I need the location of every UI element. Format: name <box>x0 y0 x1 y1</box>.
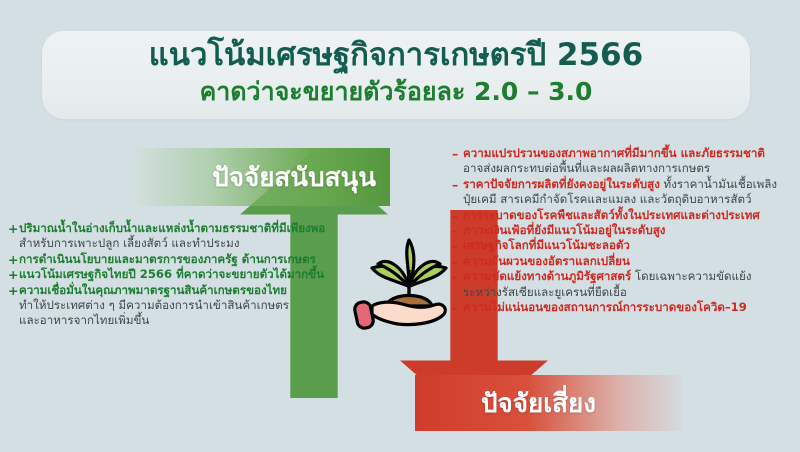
infographic-canvas: แนวโน้มเศรษฐกิจการเกษตรปี 2566 คาดว่าจะข… <box>0 0 800 452</box>
bullet-plus-icon: + <box>8 252 19 267</box>
risk-factors-list: – ความแปรปรวนของสภาพอากาศที่มีมากขึ้น แล… <box>452 146 798 315</box>
bullet-dash-icon: – <box>452 269 463 284</box>
support-banner: ปัจจัยสนับสนุน <box>132 148 390 206</box>
list-item: – ความไม่แน่นอนของสถานการณ์การระบาดของโค… <box>452 300 798 315</box>
list-item-head: แนวโน้มเศรษฐกิจไทยปี 2566 ที่คาดว่าจะขยา… <box>19 267 324 281</box>
list-item-head: ความเชื่อมั่นในคุณภาพมาตรฐานสินค้าเกษตรข… <box>19 283 287 297</box>
bullet-dash-icon: – <box>452 177 463 192</box>
bullet-plus-icon: + <box>8 221 19 236</box>
list-item-tail: โดยเฉพาะความขัดแย้ง <box>631 269 751 283</box>
risk-banner: ปัจจัยเสี่ยง <box>415 375 683 431</box>
list-item-head: ปริมาณน้ำในอ่างเก็บน้ำและแหล่งน้ำตามธรรม… <box>19 221 325 235</box>
list-item: + แนวโน้มเศรษฐกิจไทยปี 2566 ที่คาดว่าจะข… <box>8 267 358 282</box>
list-item-continuation: ทำให้ประเทศต่าง ๆ มีความต้องการนำเข้าสิน… <box>19 298 358 329</box>
list-item-continuation: ระหว่างรัสเซียและยูเครนที่ยืดเยื้อ <box>463 285 798 300</box>
support-factors-list: + ปริมาณน้ำในอ่างเก็บน้ำและแหล่งน้ำตามธร… <box>8 221 358 329</box>
list-item: – ราคาปัจจัยการผลิตที่ยังคงอยู่ในระดับสู… <box>452 177 798 208</box>
bullet-plus-icon: + <box>8 283 19 298</box>
list-item: – เศรษฐกิจโลกที่มีแนวโน้มชะลอตัว <box>452 238 798 253</box>
bullet-plus-icon: + <box>8 267 19 282</box>
list-item-continuation: อาจส่งผลกระทบต่อพื้นที่และผลผลิตทางการเก… <box>463 161 798 176</box>
bullet-dash-icon: – <box>452 146 463 161</box>
page-title: แนวโน้มเศรษฐกิจการเกษตรปี 2566 <box>42 36 750 74</box>
list-item-head: การดำเนินนโยบายและมาตรการของภาครัฐ ด้านก… <box>19 252 316 266</box>
list-item: – ความขัดแย้งทางด้านภูมิรัฐศาสตร์ โดยเฉพ… <box>452 269 798 300</box>
bullet-dash-icon: – <box>452 300 463 315</box>
page-subtitle: คาดว่าจะขยายตัวร้อยละ 2.0 – 3.0 <box>42 76 750 108</box>
list-item: – ภาวะเงินเฟ้อที่ยังมีแนวโน้มอยู่ในระดับ… <box>452 223 798 238</box>
list-item-tail: ทั้งราคาน้ำมันเชื้อเพลิง <box>660 177 777 191</box>
list-item: – การระบาดของโรคพืชและสัตว์ทั้งในประเทศแ… <box>452 208 798 223</box>
list-item-head: เศรษฐกิจโลกที่มีแนวโน้มชะลอตัว <box>463 238 630 252</box>
list-item: – ความผันผวนของอัตราแลกเปลี่ยน <box>452 254 798 269</box>
list-item-head: ภาวะเงินเฟ้อที่ยังมีแนวโน้มอยู่ในระดับสู… <box>463 223 665 237</box>
list-item: + ความเชื่อมั่นในคุณภาพมาตรฐานสินค้าเกษต… <box>8 283 358 329</box>
risk-banner-label: ปัจจัยเสี่ยง <box>481 383 596 424</box>
list-item: – ความแปรปรวนของสภาพอากาศที่มีมากขึ้น แล… <box>452 146 798 177</box>
bullet-dash-icon: – <box>452 238 463 253</box>
list-item-continuation: ปุ๋ยเคมี สารเคมีกำจัดโรคและแมลง และวัตถุ… <box>463 192 798 207</box>
list-item-head: ราคาปัจจัยการผลิตที่ยังคงอยู่ในระดับสูง <box>463 177 660 191</box>
list-item-head: ความไม่แน่นอนของสถานการณ์การระบาดของโควิ… <box>463 300 747 314</box>
list-item-head: ความผันผวนของอัตราแลกเปลี่ยน <box>463 254 630 268</box>
bullet-dash-icon: – <box>452 208 463 223</box>
list-item-head: ความขัดแย้งทางด้านภูมิรัฐศาสตร์ <box>463 269 631 283</box>
list-item: + ปริมาณน้ำในอ่างเก็บน้ำและแหล่งน้ำตามธร… <box>8 221 358 252</box>
bullet-dash-icon: – <box>452 254 463 269</box>
support-banner-label: ปัจจัยสนับสนุน <box>212 157 376 198</box>
list-item: + การดำเนินนโยบายและมาตรการของภาครัฐ ด้า… <box>8 252 358 267</box>
list-item-head: การระบาดของโรคพืชและสัตว์ทั้งในประเทศและ… <box>463 208 760 222</box>
list-item-head: ความแปรปรวนของสภาพอากาศที่มีมากขึ้น และภ… <box>463 146 765 160</box>
bullet-dash-icon: – <box>452 223 463 238</box>
list-item-continuation: สำหรับการเพาะปลูก เลี้ยงสัตว์ และทำประมง <box>19 236 358 251</box>
